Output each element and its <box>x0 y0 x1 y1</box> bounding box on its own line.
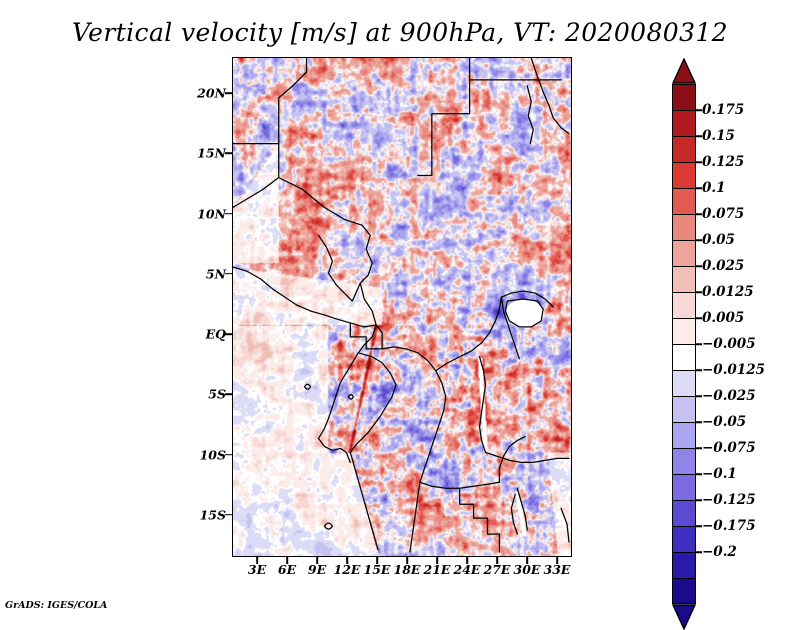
colorbar-tick-mark <box>696 291 702 293</box>
map-plot-area <box>232 57 572 557</box>
colorbar-swatch <box>672 474 696 500</box>
colorbar-swatch <box>672 84 696 110</box>
colorbar-tick-label: −0.1 <box>702 466 737 482</box>
x-axis-tick-mark <box>316 557 318 564</box>
colorbar-tick-label: 0.15 <box>702 128 735 144</box>
colorbar-tick-label: 0.125 <box>702 154 744 170</box>
x-axis-tick-label: 15E <box>364 562 391 577</box>
colorbar-tick-label: −0.125 <box>702 492 756 508</box>
colorbar-tick-mark <box>696 421 702 423</box>
y-axis-tick-label: 5N <box>206 266 226 281</box>
y-axis-tick-label: 20N <box>197 86 226 101</box>
x-axis-tick-label: 6E <box>278 562 296 577</box>
colorbar-tick-label: 0.05 <box>702 232 735 248</box>
x-axis-tick-mark <box>286 557 288 564</box>
colorbar-tick-label: −0.2 <box>702 544 737 560</box>
colorbar-tick-label: −0.005 <box>702 336 756 352</box>
colorbar-tick-mark <box>696 473 702 475</box>
x-axis-tick-mark <box>256 557 258 564</box>
x-axis-tick-mark <box>406 557 408 564</box>
colorbar-swatch <box>672 526 696 552</box>
y-axis-tick-label: 15S <box>200 507 226 522</box>
x-axis-tick-label: 24E <box>454 562 481 577</box>
colorbar-tick-mark <box>696 499 702 501</box>
x-axis-tick-mark <box>526 557 528 564</box>
colorbar-swatch <box>672 266 696 292</box>
x-axis-tick-label: 12E <box>334 562 361 577</box>
colorbar-swatch <box>672 578 696 604</box>
x-axis-tick-label: 30E <box>514 562 541 577</box>
colorbar-tick-mark <box>696 447 702 449</box>
colorbar-max-arrow <box>672 58 696 84</box>
x-axis-tick-mark <box>376 557 378 564</box>
x-axis-tick-mark <box>436 557 438 564</box>
x-axis-tick-label: 9E <box>308 562 326 577</box>
colorbar-swatch <box>672 448 696 474</box>
x-axis-tick-label: 3E <box>248 562 266 577</box>
colorbar-swatch <box>672 188 696 214</box>
y-axis-tick-mark <box>225 273 232 275</box>
x-axis-tick-mark <box>466 557 468 564</box>
colorbar-swatch <box>672 552 696 578</box>
colorbar-tick-mark <box>696 161 702 163</box>
colorbar-min-arrow <box>672 604 696 630</box>
colorbar-swatch <box>672 292 696 318</box>
colorbar-tick-mark <box>696 551 702 553</box>
y-axis-tick-mark <box>225 92 232 94</box>
colorbar-tick-mark <box>696 369 702 371</box>
colorbar-tick-mark <box>696 525 702 527</box>
x-axis-tick-label: 18E <box>394 562 421 577</box>
y-axis-tick-mark <box>225 394 232 396</box>
grads-credit: GrADS: IGES/COLA <box>5 600 107 611</box>
x-axis-tick-label: 33E <box>544 562 571 577</box>
colorbar-swatch <box>672 162 696 188</box>
colorbar-tick-mark <box>696 265 702 267</box>
page-title: Vertical velocity [m/s] at 900hPa, VT: 2… <box>0 18 800 47</box>
colorbar-tick-mark <box>696 317 702 319</box>
colorbar-tick-mark <box>696 187 702 189</box>
colorbar-tick-label: 0.0125 <box>702 284 754 300</box>
x-axis-tick-mark <box>346 557 348 564</box>
colorbar-swatch <box>672 214 696 240</box>
y-axis-tick-label: EQ <box>206 327 226 342</box>
colorbar-swatch <box>672 240 696 266</box>
colorbar-tick-label: −0.0125 <box>702 362 765 378</box>
colorbar-swatch <box>672 110 696 136</box>
colorbar-tick-mark <box>696 395 702 397</box>
y-axis-tick-label: 15N <box>197 146 226 161</box>
colorbar-tick-label: 0.1 <box>702 180 726 196</box>
colorbar-tick-label: −0.175 <box>702 518 756 534</box>
x-axis-tick-label: 21E <box>424 562 451 577</box>
country-borders-overlay <box>233 58 571 556</box>
colorbar-swatch <box>672 136 696 162</box>
colorbar-swatch <box>672 396 696 422</box>
y-axis-tick-label: 10N <box>197 206 226 221</box>
colorbar-tick-label: 0.075 <box>702 206 744 222</box>
y-axis-tick-mark <box>225 153 232 155</box>
colorbar-tick-mark <box>696 135 702 137</box>
colorbar-tick-label: −0.05 <box>702 414 746 430</box>
colorbar-swatch <box>672 500 696 526</box>
colorbar-tick-label: −0.075 <box>702 440 756 456</box>
y-axis-tick-mark <box>225 333 232 335</box>
colorbar-tick-label: −0.025 <box>702 388 756 404</box>
colorbar-swatch <box>672 370 696 396</box>
y-axis-tick-label: 10S <box>200 447 226 462</box>
colorbar-tick-mark <box>696 343 702 345</box>
colorbar-tick-label: 0.005 <box>702 310 744 326</box>
colorbar-swatch <box>672 318 696 344</box>
y-axis-tick-mark <box>225 514 232 516</box>
colorbar-swatch <box>672 344 696 370</box>
x-axis-tick-label: 27E <box>484 562 511 577</box>
colorbar-tick-mark <box>696 239 702 241</box>
x-axis-tick-mark <box>556 557 558 564</box>
colorbar <box>672 84 696 604</box>
colorbar-tick-mark <box>696 109 702 111</box>
y-axis-tick-label: 5S <box>208 387 226 402</box>
y-axis-tick-mark <box>225 213 232 215</box>
y-axis-tick-mark <box>225 454 232 456</box>
x-axis-tick-mark <box>496 557 498 564</box>
colorbar-swatch <box>672 422 696 448</box>
colorbar-tick-label: 0.175 <box>702 102 744 118</box>
colorbar-tick-mark <box>696 213 702 215</box>
colorbar-tick-label: 0.025 <box>702 258 744 274</box>
